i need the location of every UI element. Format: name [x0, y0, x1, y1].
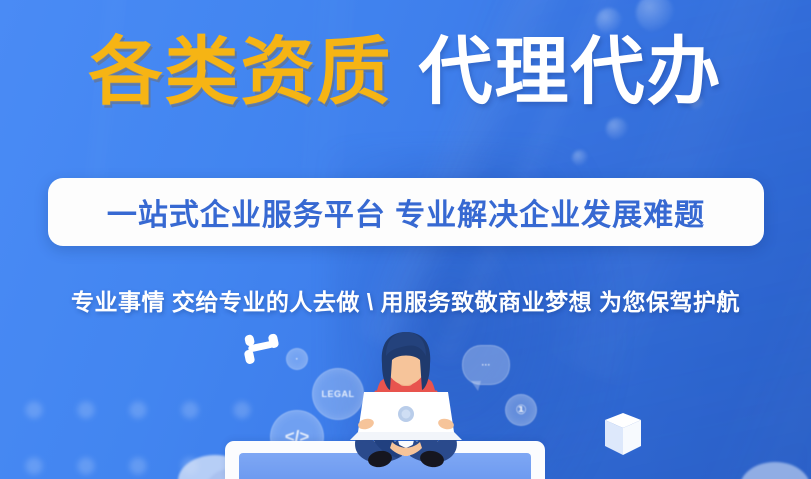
- chat-badge-label: ···: [482, 360, 491, 370]
- promo-banner: · LEGAL </> ··· ①: [0, 0, 811, 479]
- dot-badge-label: ·: [296, 354, 299, 364]
- cube-icon: [603, 413, 643, 457]
- dot-badge: ·: [286, 348, 308, 370]
- coin-badge-label: ①: [515, 402, 526, 418]
- subtitle-box: 一站式企业服务平台 专业解决企业发展难题: [48, 178, 764, 246]
- banner-tagline: 专业事情 交给专业的人去做 \ 用服务致敬商业梦想 为您保驾护航: [0, 283, 811, 317]
- coin-badge: ①: [505, 394, 537, 426]
- banner-headline: 各类资质代理代办: [0, 33, 811, 111]
- person-with-laptop-illustration: [336, 330, 476, 479]
- logo-glyph-icon: [243, 333, 283, 367]
- subtitle-text: 一站式企业服务平台 专业解决企业发展难题: [107, 190, 705, 234]
- headline-plain: 代理代办: [419, 30, 723, 113]
- headline-highlight: 各类资质: [89, 30, 393, 113]
- cloud-shape: [740, 462, 810, 479]
